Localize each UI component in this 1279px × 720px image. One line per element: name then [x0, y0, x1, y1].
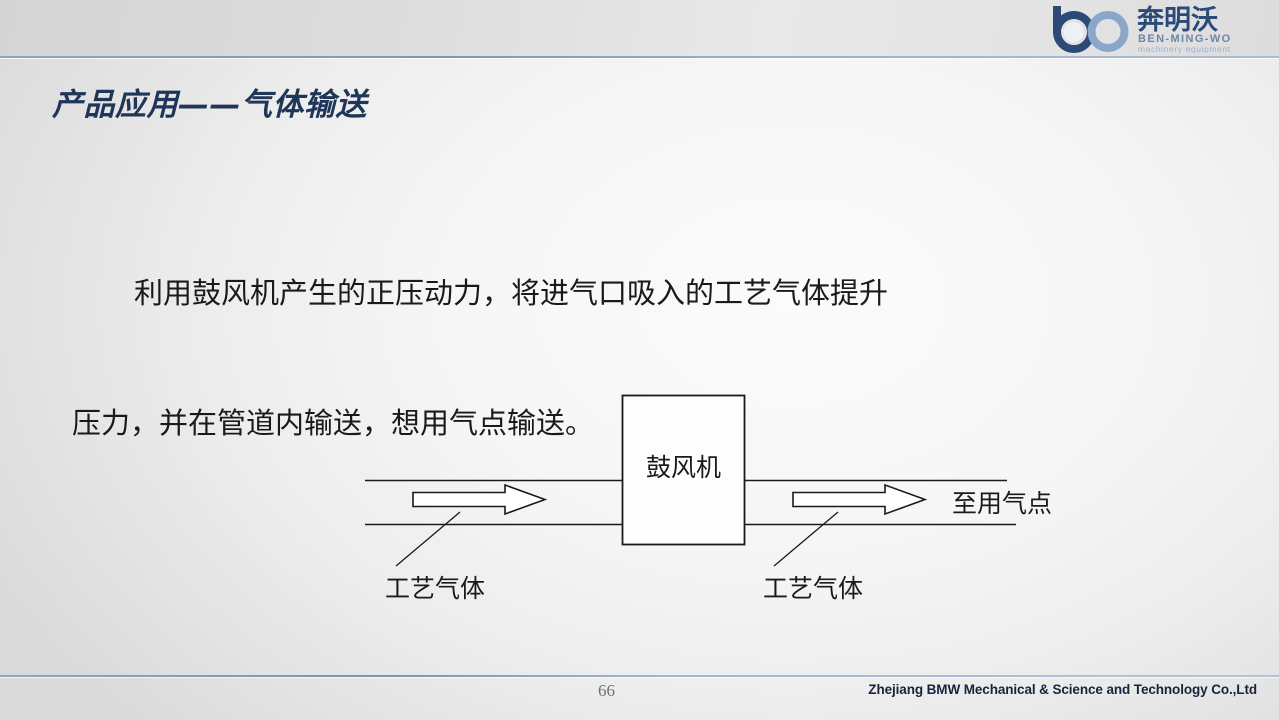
body-paragraph: 利用鼓风机产生的正压动力，将进气口吸入的工艺气体提升 压力，并在管道内输送，想用…	[72, 196, 1122, 521]
body-line-2: 压力，并在管道内输送，想用气点输送。	[72, 391, 1122, 456]
company-logo: 奔明沃 BEN-MING-WO machinery equipment	[1049, 2, 1271, 54]
header-divider-highlight	[0, 58, 1279, 59]
logo-tagline-text: machinery equipment	[1138, 44, 1231, 54]
footer-divider-highlight	[0, 677, 1279, 678]
footer-company-name: Zhejiang BMW Mechanical & Science and Te…	[868, 682, 1257, 697]
bo-monogram-icon	[1057, 6, 1125, 49]
page-title: 产品应用——气体输送	[52, 79, 367, 124]
page-number: 66	[598, 681, 615, 701]
logo-artwork: 奔明沃 BEN-MING-WO machinery equipment	[1049, 2, 1271, 54]
presentation-slide: 奔明沃 BEN-MING-WO machinery equipment 产品应用…	[0, 0, 1279, 720]
inlet-gas-label: 工艺气体	[385, 569, 485, 605]
body-line-1-text: 利用鼓风机产生的正压动力，将进气口吸入的工艺气体提升	[134, 276, 888, 310]
outlet-gas-label: 工艺气体	[763, 569, 863, 605]
destination-label: 至用气点	[952, 484, 1052, 520]
body-line-1: 利用鼓风机产生的正压动力，将进气口吸入的工艺气体提升	[72, 261, 1122, 326]
blower-box-label: 鼓风机	[622, 448, 745, 484]
logo-chinese-text: 奔明沃	[1137, 5, 1218, 36]
